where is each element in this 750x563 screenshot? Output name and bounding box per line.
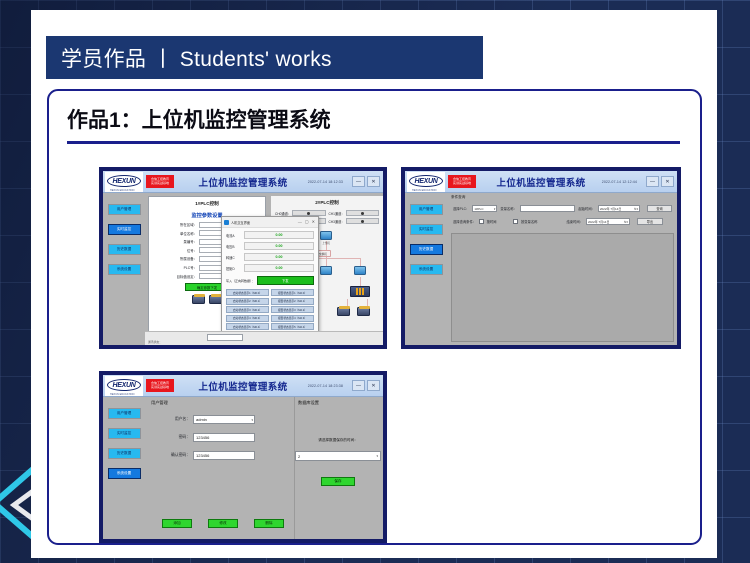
write-button[interactable]: 下发 bbox=[257, 276, 314, 285]
value-label: 电压B bbox=[226, 244, 242, 249]
logo-oval-shape bbox=[409, 175, 443, 187]
dialog-close-icon[interactable]: ✕ bbox=[312, 220, 315, 224]
badge-line-2: 实训实战基地 bbox=[453, 182, 471, 185]
topo-link bbox=[360, 277, 361, 286]
query-button[interactable]: 查询 bbox=[647, 205, 672, 213]
username-row: 用户名： admin ▾ bbox=[148, 415, 290, 424]
export-button[interactable]: 导出 bbox=[637, 218, 663, 226]
io-channel: CH3通道： bbox=[329, 218, 380, 224]
section-banner: 学员作品 丨 Students' works bbox=[46, 36, 483, 79]
username-value: admin bbox=[196, 417, 207, 422]
save-button[interactable]: 保存 bbox=[321, 477, 355, 486]
start-time-label: 起始时间： bbox=[578, 206, 594, 211]
checkbox-by-variable[interactable] bbox=[513, 219, 518, 224]
hexun-logo: HEXUN HEXUN EDUCATION bbox=[105, 376, 143, 396]
monitor-icon bbox=[320, 231, 332, 240]
sidebar-2: 用户管理 实时监控 历史数据 系统设置 bbox=[405, 193, 447, 345]
app-body-2: 用户管理 实时监控 历史数据 系统设置 条件查询 选择PLC： bbox=[405, 193, 677, 345]
query-section-title: 条件查询 bbox=[451, 195, 674, 200]
close-icon[interactable]: ✕ bbox=[367, 380, 380, 391]
hexun-logo: HEXUN HEXUN EDUCATION bbox=[407, 172, 445, 192]
chevron-down-icon: ▾ bbox=[376, 454, 378, 458]
checkbox-by-time[interactable] bbox=[479, 219, 484, 224]
app-icon bbox=[224, 220, 229, 225]
condition-label: 选择查询条件： bbox=[453, 219, 476, 224]
io-value[interactable] bbox=[346, 218, 379, 224]
plc2-header: 2#PLC控制 bbox=[271, 196, 383, 206]
plc-select[interactable]: 1#PLC ▾ bbox=[472, 205, 497, 213]
topo-client bbox=[320, 266, 332, 275]
hmi-dialog[interactable]: 人机交互界面 — ▢ ✕ 电流A0.00 电压B0.00 转速C0.00 bbox=[221, 216, 319, 345]
password-row: 密码： 123456 bbox=[148, 433, 290, 442]
field-label: 位号： bbox=[153, 248, 197, 253]
value-row: 电流A0.00 bbox=[226, 231, 314, 239]
field-label: 所在区域： bbox=[153, 222, 197, 227]
target-label: 目标值设定： bbox=[153, 274, 197, 279]
io-channel: CH1通道： bbox=[329, 210, 380, 216]
spinner-icon: ⇅▾ bbox=[634, 207, 638, 211]
slide-root: 学员作品 丨 Students' works 作品1：上位机监控管理系统 HEX… bbox=[0, 0, 750, 563]
sidebar-item-system-settings[interactable]: 系统设置 bbox=[410, 264, 443, 275]
status-caption: 通讯状态： bbox=[148, 340, 162, 344]
user-action-buttons: 添加 修改 删除 bbox=[162, 519, 284, 528]
window-controls-1: — ✕ bbox=[352, 176, 380, 187]
chevron-down-icon: ▾ bbox=[494, 207, 496, 211]
edit-user-button[interactable]: 修改 bbox=[208, 519, 238, 528]
app-body-3: 用户管理 实时监控 历史数据 系统设置 用户管理 用户名： bbox=[103, 397, 383, 539]
sidebar-item-history-data[interactable]: 历史数据 bbox=[410, 244, 443, 255]
value-label: 转速C bbox=[226, 255, 242, 260]
logo-oval-shape bbox=[107, 175, 141, 187]
io-label: CH3通道： bbox=[329, 219, 345, 224]
value-readout: 0.00 bbox=[244, 253, 314, 261]
minimize-icon[interactable]: — bbox=[646, 176, 659, 187]
value-label: 扭矩D bbox=[226, 266, 242, 271]
app-window-2: HEXUN HEXUN EDUCATION 合信工控教育 实训实战基地 上位机监… bbox=[405, 171, 677, 345]
value-row: 转速C0.00 bbox=[226, 253, 314, 261]
end-time-label: 结束时间： bbox=[566, 219, 582, 224]
sidebar-item-system-settings[interactable]: 系统设置 bbox=[108, 264, 141, 275]
field-label: PLC号： bbox=[153, 265, 197, 270]
close-icon[interactable]: ✕ bbox=[367, 176, 380, 187]
plc-select-label: 选择PLC： bbox=[453, 206, 469, 211]
value-row: 电压B0.00 bbox=[226, 242, 314, 250]
topo-plc bbox=[350, 286, 370, 297]
io-dot-icon bbox=[307, 212, 310, 215]
sidebar-item-user-management[interactable]: 用户管理 bbox=[108, 408, 141, 419]
window-controls-3: — ✕ bbox=[352, 380, 380, 391]
screenshot-user-management[interactable]: HEXUN HEXUN EDUCATION 合信工控教育 实训实战基地 上位机监… bbox=[99, 371, 387, 543]
query-row-1: 选择PLC： 1#PLC ▾ 变量名称： 起始时间： 2 bbox=[451, 202, 674, 215]
titlebar-clock-2: 2022-07-14 12:12:44 bbox=[602, 180, 637, 184]
motor-icon bbox=[357, 307, 370, 316]
app-window-3: HEXUN HEXUN EDUCATION 合信工控教育 实训实战基地 上位机监… bbox=[103, 375, 383, 539]
topo-label: 上位机 bbox=[322, 241, 330, 245]
confirm-password-row: 确认密码： 123456 bbox=[148, 451, 290, 460]
app-body-1: 用户管理 实时监控 历史数据 系统设置 1#PLC控制 监控参数设置 所在区域： bbox=[103, 193, 383, 345]
screenshot-realtime-monitor[interactable]: HEXUN HEXUN EDUCATION 合信工控教育 实训实战基地 上位机监… bbox=[99, 167, 387, 349]
titlebar-clock-3: 2022-07-14 18:23:38 bbox=[308, 384, 343, 388]
list-item[interactable]: 报警状态显示5（M2.4） bbox=[271, 323, 314, 330]
app-content-3: 用户管理 用户名： admin ▾ 密码： bbox=[145, 397, 383, 539]
app-content-2: 条件查询 选择PLC： 1#PLC ▾ 变量名称： bbox=[447, 193, 677, 345]
sidebar-item-history-data[interactable]: 历史数据 bbox=[108, 448, 141, 459]
user-management-section: 用户管理 用户名： admin ▾ 密码： bbox=[148, 397, 290, 539]
write-label: 写入（正向转数据）： bbox=[226, 279, 255, 283]
user-management-title: 用户管理 bbox=[148, 397, 290, 406]
list-item[interactable]: 报警状态显示1（M2.0） bbox=[271, 289, 314, 296]
start-date-value: 2022年 7月14日 bbox=[600, 207, 622, 211]
checkbox-by-variable-label: 按变量名称 bbox=[521, 219, 537, 224]
badge-line-2: 实训实战基地 bbox=[151, 386, 169, 389]
dialog-window-controls: — ▢ ✕ bbox=[298, 220, 316, 224]
screenshot-history-query[interactable]: HEXUN HEXUN EDUCATION 合信工控教育 实训实战基地 上位机监… bbox=[401, 167, 681, 349]
end-date-picker[interactable]: 2022年 7月14日 ⇅▾ bbox=[586, 218, 630, 226]
value-row: 扭矩D0.00 bbox=[226, 264, 314, 272]
sidebar-item-realtime-monitor[interactable]: 实时监控 bbox=[410, 224, 443, 235]
banner-title: 学员作品 丨 Students' works bbox=[46, 43, 332, 73]
close-icon[interactable]: ✕ bbox=[661, 176, 674, 187]
retention-note: 请选择数据保存的时间： bbox=[295, 438, 381, 443]
plc-select-value: 1#PLC bbox=[474, 207, 483, 211]
list-item[interactable]: 报警状态显示4（M2.3） bbox=[271, 315, 314, 322]
delete-user-button[interactable]: 删除 bbox=[254, 519, 284, 528]
confirm-password-label: 确认密码： bbox=[148, 453, 190, 458]
monitor-icon bbox=[354, 266, 366, 275]
dialog-maximize-icon[interactable]: ▢ bbox=[305, 220, 309, 224]
database-settings-title: 数据库设置 bbox=[295, 397, 381, 406]
list-item[interactable]: 报警状态显示2（M2.1） bbox=[271, 298, 314, 305]
dialog-title: 人机交互界面 bbox=[231, 220, 250, 225]
monitor-icon bbox=[320, 266, 332, 275]
value-readout: 0.00 bbox=[244, 264, 314, 272]
topo-host: 上位机 bbox=[320, 231, 332, 245]
confirm-password-input[interactable]: 123456 bbox=[193, 451, 255, 460]
io-value[interactable] bbox=[346, 210, 379, 216]
sidebar-1: 用户管理 实时监控 历史数据 系统设置 bbox=[103, 193, 145, 345]
history-results-table[interactable] bbox=[451, 233, 674, 342]
username-combo[interactable]: admin ▾ bbox=[193, 415, 255, 424]
spinner-icon: ⇅▾ bbox=[624, 220, 628, 224]
training-badge: 合信工控教育 实训实战基地 bbox=[146, 175, 174, 188]
add-user-button[interactable]: 添加 bbox=[162, 519, 192, 528]
logo-subtext: HEXUN EDUCATION bbox=[412, 189, 436, 192]
list-item[interactable]: 启动状态显示2（M0.1） bbox=[226, 298, 269, 305]
io-dot-icon bbox=[361, 212, 364, 215]
sidebar-item-user-management[interactable]: 用户管理 bbox=[410, 204, 443, 215]
sidebar-item-history-data[interactable]: 历史数据 bbox=[108, 244, 141, 255]
io-label: CH1通道： bbox=[329, 211, 345, 216]
password-input[interactable]: 123456 bbox=[193, 433, 255, 442]
chevron-down-icon: ▾ bbox=[251, 418, 253, 422]
end-date-value: 2022年 7月14日 bbox=[588, 220, 610, 224]
motor-icon bbox=[192, 295, 205, 304]
logo-oval-shape bbox=[107, 379, 141, 391]
value-readout: 0.00 bbox=[244, 242, 314, 250]
password-label: 密码： bbox=[148, 435, 190, 440]
retention-select[interactable]: 2 ▾ bbox=[295, 451, 381, 461]
variable-name-label: 变量名称： bbox=[500, 206, 516, 211]
app-content-1: 1#PLC控制 监控参数设置 所在区域： 单位名称： 泵编号： 位号： 所属设备… bbox=[145, 193, 383, 345]
sidebar-item-realtime-monitor[interactable]: 实时监控 bbox=[108, 428, 141, 439]
panel-divider bbox=[67, 141, 680, 144]
list-item[interactable]: 启动状态显示5（M0.4） bbox=[226, 323, 269, 330]
field-label: 泵编号： bbox=[153, 239, 197, 244]
window-controls-2: — ✕ bbox=[646, 176, 674, 187]
minimize-icon[interactable]: — bbox=[352, 176, 365, 187]
checkbox-by-time-label: 按时间 bbox=[487, 219, 497, 224]
database-settings-section: 数据库设置 请选择数据保存的时间： 2 ▾ 保存 bbox=[294, 397, 381, 539]
start-date-picker[interactable]: 2022年 7月14日 ⇅▾ bbox=[598, 205, 640, 213]
write-action-row: 写入（正向转数据）： 下发 bbox=[226, 276, 314, 285]
topo-motor bbox=[337, 307, 350, 316]
panel-title: 作品1：上位机监控管理系统 bbox=[67, 104, 331, 134]
sidebar-item-user-management[interactable]: 用户管理 bbox=[108, 204, 141, 215]
titlebar-clock-1: 2022-07-14 18:12:33 bbox=[308, 180, 343, 184]
value-readout: 0.00 bbox=[244, 231, 314, 239]
plc1-header: 1#PLC控制 bbox=[149, 197, 265, 207]
variable-name-input[interactable] bbox=[520, 205, 576, 213]
field-label: 所属设备： bbox=[153, 256, 197, 261]
list-item[interactable]: 启动状态显示1（M0.0） bbox=[226, 289, 269, 296]
field-label: 单位名称： bbox=[153, 231, 197, 236]
plc-icon bbox=[350, 286, 370, 297]
app-titlebar-3: HEXUN HEXUN EDUCATION 合信工控教育 实训实战基地 上位机监… bbox=[103, 375, 383, 397]
query-filter-bar: 选择PLC： 1#PLC ▾ 变量名称： 起始时间： 2 bbox=[451, 202, 674, 230]
works-panel: 作品1：上位机监控管理系统 HEXUN HEXUN EDUCATION 合信工控… bbox=[47, 89, 702, 545]
query-row-2: 选择查询条件： 按时间 按变量名称 结束时间： 2022年 7月14日 ⇅▾ bbox=[451, 215, 674, 228]
io-label: CH0通道： bbox=[275, 211, 291, 216]
topo-motor bbox=[357, 307, 370, 316]
app-titlebar-2: HEXUN HEXUN EDUCATION 合信工控教育 实训实战基地 上位机监… bbox=[405, 171, 677, 193]
status-combo[interactable] bbox=[207, 334, 243, 341]
username-label: 用户名： bbox=[148, 417, 190, 422]
value-label: 电流A bbox=[226, 233, 242, 238]
status-strip-1: 通讯状态： bbox=[145, 331, 383, 345]
list-item[interactable]: 报警状态显示3（M2.2） bbox=[271, 306, 314, 313]
topo-link bbox=[360, 258, 361, 266]
io-dot-icon bbox=[361, 220, 364, 223]
app-window-1: HEXUN HEXUN EDUCATION 合信工控教育 实训实战基地 上位机监… bbox=[103, 171, 383, 345]
dialog-minimize-icon[interactable]: — bbox=[298, 220, 302, 224]
minimize-icon[interactable]: — bbox=[352, 380, 365, 391]
hexun-logo: HEXUN HEXUN EDUCATION bbox=[105, 172, 143, 192]
motor-icon bbox=[337, 307, 350, 316]
sidebar-item-system-settings[interactable]: 系统设置 bbox=[108, 468, 141, 479]
retention-value: 2 bbox=[298, 454, 300, 459]
sidebar-item-realtime-monitor[interactable]: 实时监控 bbox=[108, 224, 141, 235]
training-badge: 合信工控教育 实训实战基地 bbox=[146, 379, 174, 392]
logo-subtext: HEXUN EDUCATION bbox=[110, 393, 134, 396]
topo-client bbox=[354, 266, 366, 275]
list-item[interactable]: 启动状态显示4（M0.3） bbox=[226, 315, 269, 322]
content-card: 学员作品 丨 Students' works 作品1：上位机监控管理系统 HEX… bbox=[31, 10, 717, 558]
list-item[interactable]: 启动状态显示3（M0.2） bbox=[226, 306, 269, 313]
training-badge: 合信工控教育 实训实战基地 bbox=[448, 175, 476, 188]
dialog-titlebar: 人机交互界面 — ▢ ✕ bbox=[222, 217, 318, 228]
logo-subtext: HEXUN EDUCATION bbox=[110, 189, 134, 192]
sidebar-3: 用户管理 实时监控 历史数据 系统设置 bbox=[103, 397, 145, 539]
badge-line-2: 实训实战基地 bbox=[151, 182, 169, 185]
app-titlebar-1: HEXUN HEXUN EDUCATION 合信工控教育 实训实战基地 上位机监… bbox=[103, 171, 383, 193]
